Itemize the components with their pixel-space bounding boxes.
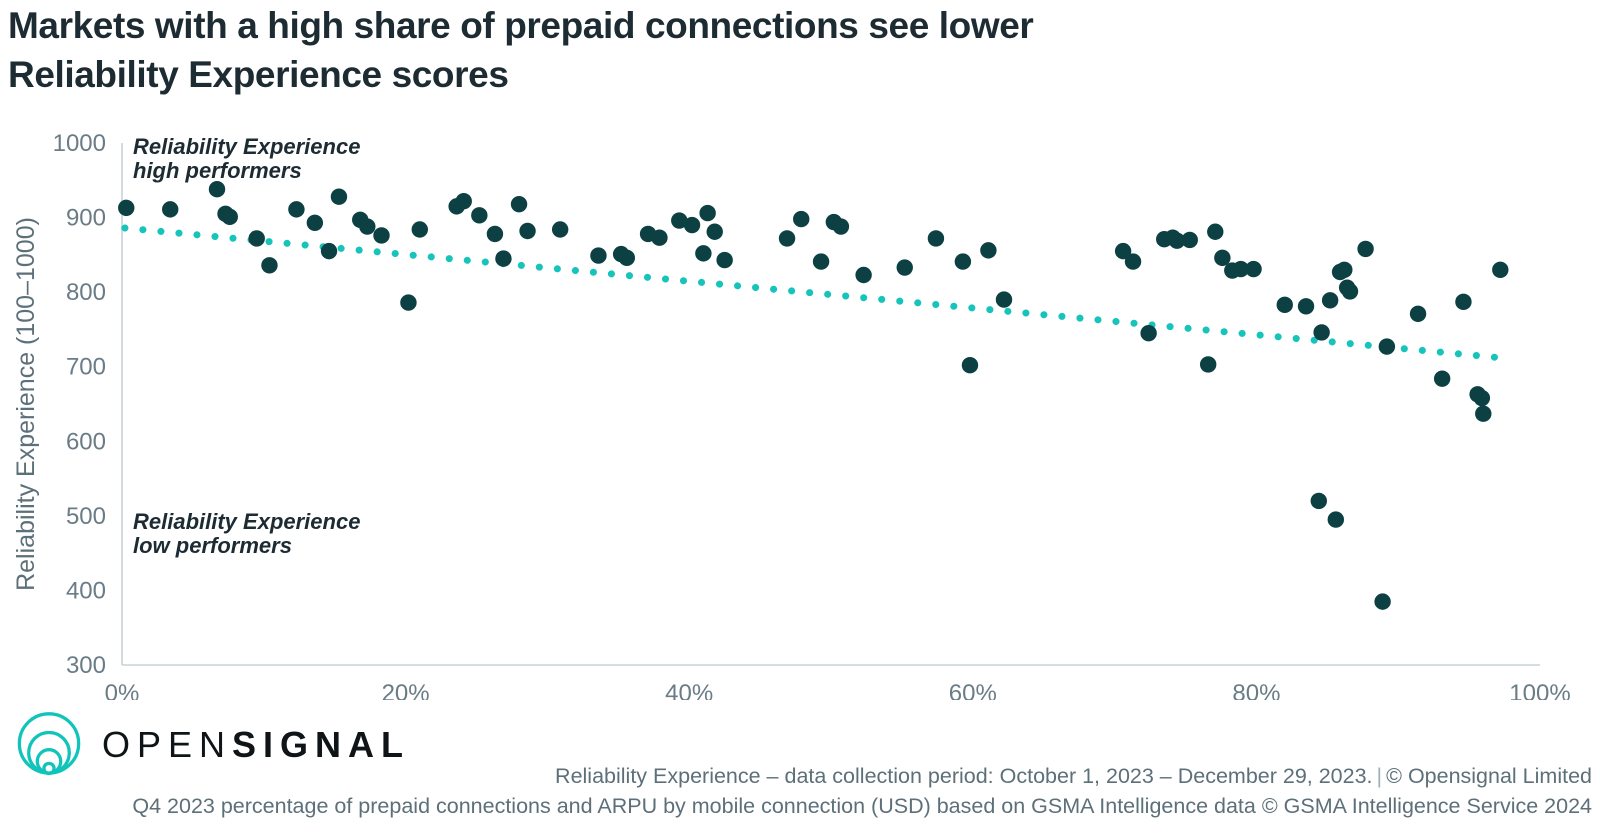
data-point — [1434, 370, 1450, 386]
data-point — [1298, 298, 1314, 314]
data-point — [456, 193, 472, 209]
data-point — [707, 224, 723, 240]
data-point — [471, 207, 487, 223]
footer-line-2: Q4 2023 percentage of prepaid connection… — [0, 792, 1592, 822]
data-point — [222, 209, 238, 225]
y-axis-title: Reliability Experience (100–1000) — [12, 217, 40, 591]
data-point — [980, 242, 996, 258]
scatter-plot-area: 3004005006007008009001000 0%20%40%60%80%… — [0, 0, 1600, 700]
x-tick-label: 20% — [382, 680, 430, 700]
y-tick-label: 500 — [66, 503, 106, 530]
x-tick-label: 100% — [1509, 680, 1570, 700]
data-point — [1379, 338, 1395, 354]
data-point — [695, 245, 711, 261]
data-point — [1311, 493, 1327, 509]
data-point — [716, 252, 732, 268]
data-point — [321, 243, 337, 259]
data-point — [261, 257, 277, 273]
x-axis: 0%20%40%60%80%100% — [105, 665, 1571, 700]
x-tick-label: 60% — [949, 680, 997, 700]
footer-copyright: © Opensignal Limited — [1386, 764, 1592, 788]
data-point — [1474, 390, 1490, 406]
logo-word-signal: SIGNAL — [232, 724, 410, 765]
axis-titles: Percentage of prepaid connectionsReliabi… — [12, 217, 1009, 700]
y-tick-label: 300 — [66, 652, 106, 679]
y-tick-label: 400 — [66, 577, 106, 604]
data-point — [1322, 292, 1338, 308]
chart-page: Markets with a high share of prepaid con… — [0, 0, 1600, 836]
data-point — [1336, 262, 1352, 278]
annotation-low-performers: Reliability Experiencelow performers — [133, 509, 360, 558]
data-point — [699, 205, 715, 221]
data-point — [833, 218, 849, 234]
data-point — [1207, 224, 1223, 240]
footer-line-1: Reliability Experience – data collection… — [0, 762, 1592, 792]
data-point — [1140, 325, 1156, 341]
data-point — [495, 250, 511, 266]
data-point — [813, 253, 829, 269]
data-point — [684, 217, 700, 233]
data-point — [373, 227, 389, 243]
y-axis: 3004005006007008009001000 — [53, 130, 122, 679]
data-point — [1277, 297, 1293, 313]
data-point — [793, 211, 809, 227]
data-point — [855, 267, 871, 283]
data-point — [331, 188, 347, 204]
data-point — [1342, 283, 1358, 299]
data-point — [1357, 241, 1373, 257]
data-point — [118, 200, 134, 216]
footer-separator: | — [1373, 764, 1387, 788]
data-point — [962, 357, 978, 373]
data-point — [1492, 262, 1508, 278]
data-point — [897, 259, 913, 275]
footer-data-period: Reliability Experience – data collection… — [555, 764, 1372, 788]
data-point — [955, 253, 971, 269]
data-point — [249, 230, 265, 246]
data-point — [511, 196, 527, 212]
y-tick-label: 600 — [66, 428, 106, 455]
data-point — [1328, 511, 1344, 527]
data-point — [779, 230, 795, 246]
data-point — [1455, 294, 1471, 310]
data-point — [1475, 405, 1491, 421]
data-point — [359, 218, 375, 234]
data-point — [487, 226, 503, 242]
data-point — [307, 215, 323, 231]
data-point — [209, 181, 225, 197]
x-tick-label: 80% — [1232, 680, 1280, 700]
data-point — [288, 201, 304, 217]
plot-annotations: Reliability Experiencehigh performersRel… — [133, 134, 360, 558]
y-tick-label: 900 — [66, 205, 106, 232]
y-tick-label: 700 — [66, 354, 106, 381]
data-point — [619, 250, 635, 266]
logo-word-open: OPEN — [102, 724, 232, 765]
data-points — [118, 181, 1508, 610]
data-point — [1374, 593, 1390, 609]
data-point — [1200, 356, 1216, 372]
data-point — [1182, 232, 1198, 248]
footer-notes: Reliability Experience – data collection… — [0, 762, 1592, 821]
data-point — [552, 221, 568, 237]
x-tick-label: 40% — [665, 680, 713, 700]
x-tick-label: 0% — [105, 680, 140, 700]
data-point — [162, 201, 178, 217]
opensignal-wordmark: OPENSIGNAL — [102, 727, 410, 763]
data-point — [590, 247, 606, 263]
data-point — [412, 221, 428, 237]
data-point — [1410, 306, 1426, 322]
data-point — [928, 230, 944, 246]
data-point — [1313, 324, 1329, 340]
y-tick-label: 800 — [66, 279, 106, 306]
data-point — [1245, 261, 1261, 277]
annotation-high-performers: Reliability Experiencehigh performers — [133, 134, 360, 183]
y-tick-label: 1000 — [53, 130, 106, 157]
data-point — [1125, 253, 1141, 269]
data-point — [996, 291, 1012, 307]
data-point — [651, 230, 667, 246]
data-point — [400, 294, 416, 310]
data-point — [519, 223, 535, 239]
scatter-plot-svg: 3004005006007008009001000 0%20%40%60%80%… — [0, 0, 1600, 700]
